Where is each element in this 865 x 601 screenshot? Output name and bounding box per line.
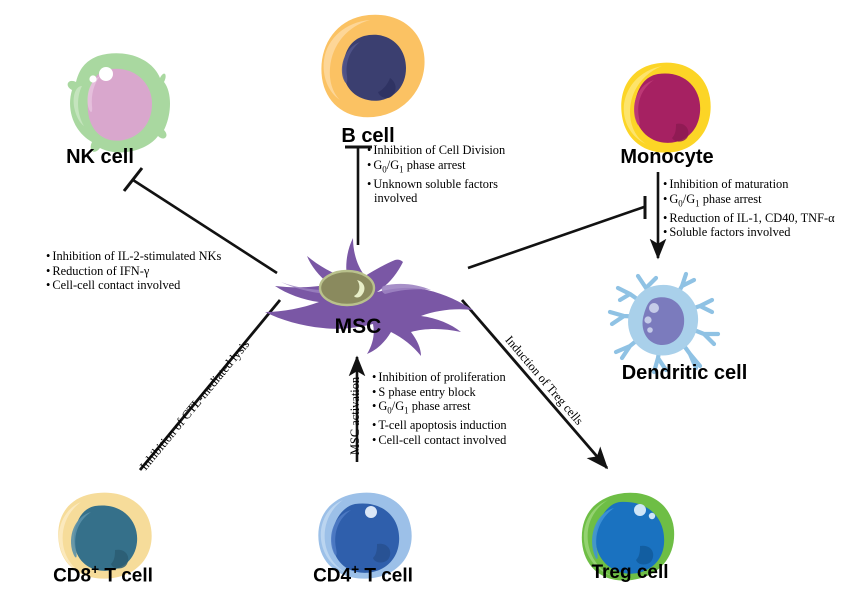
b-cell-illustration	[321, 15, 424, 118]
dendritic-cell-illustration	[610, 274, 718, 372]
note-line: •Cell-cell contact involved	[372, 433, 507, 448]
note-line: •G0/G1 phase arrest	[367, 158, 505, 177]
monocyte-effects-note: •Inhibition of maturation •G0/G1 phase a…	[663, 177, 835, 240]
cd8-label-main: CD8	[53, 565, 91, 586]
label-dendritic-cell: Dendritic cell	[597, 362, 772, 385]
nk-cell-illustration	[68, 53, 170, 152]
note-line: •Unknown soluble factors	[367, 177, 505, 192]
cd8-superscript: +	[91, 562, 99, 577]
cd8-label-rest: T cell	[99, 565, 153, 586]
note-line: •G0/G1 phase arrest	[663, 192, 835, 211]
note-line: •Reduction of IFN-γ	[46, 264, 221, 279]
note-line: •Inhibition of maturation	[663, 177, 835, 192]
t-cell-effects-note: •Inhibition of proliferation •S phase en…	[372, 370, 507, 447]
note-line: •Inhibition of IL-2-stimulated NKs	[46, 249, 221, 264]
note-line: •Reduction of IL-1, CD40, TNF-α	[663, 211, 835, 226]
label-monocyte: Monocyte	[602, 146, 732, 169]
b-cell-effects-note: •Inhibition of Cell Division •G0/G1 phas…	[367, 143, 505, 206]
label-cd8-t-cell: CD8+ T cell	[28, 562, 178, 587]
note-line: •Soluble factors involved	[663, 225, 835, 240]
label-treg-cell: Treg cell	[565, 562, 695, 584]
note-line: •T-cell apoptosis induction	[372, 418, 507, 433]
note-line: involved	[367, 191, 505, 206]
diagram-canvas: NK cell B cell Monocyte Dendritic cell M…	[0, 0, 865, 601]
cd4-superscript: +	[351, 562, 359, 577]
cd4-label-main: CD4	[313, 565, 351, 586]
label-msc: MSC	[318, 315, 398, 339]
note-line: •Inhibition of Cell Division	[367, 143, 505, 158]
edge-label-msc-activation: MSC activation	[348, 377, 363, 455]
cell-illustration-layer	[0, 0, 865, 601]
note-line: •S phase entry block	[372, 385, 507, 400]
note-line: •Inhibition of proliferation	[372, 370, 507, 385]
cd4-label-rest: T cell	[359, 565, 413, 586]
label-cd4-t-cell: CD4+ T cell	[288, 562, 438, 587]
label-nk-cell: NK cell	[45, 146, 155, 169]
note-line: •G0/G1 phase arrest	[372, 399, 507, 418]
nk-effects-note: •Inhibition of IL-2-stimulated NKs •Redu…	[46, 249, 221, 293]
note-line: •Cell-cell contact involved	[46, 278, 221, 293]
monocyte-illustration	[621, 63, 710, 153]
